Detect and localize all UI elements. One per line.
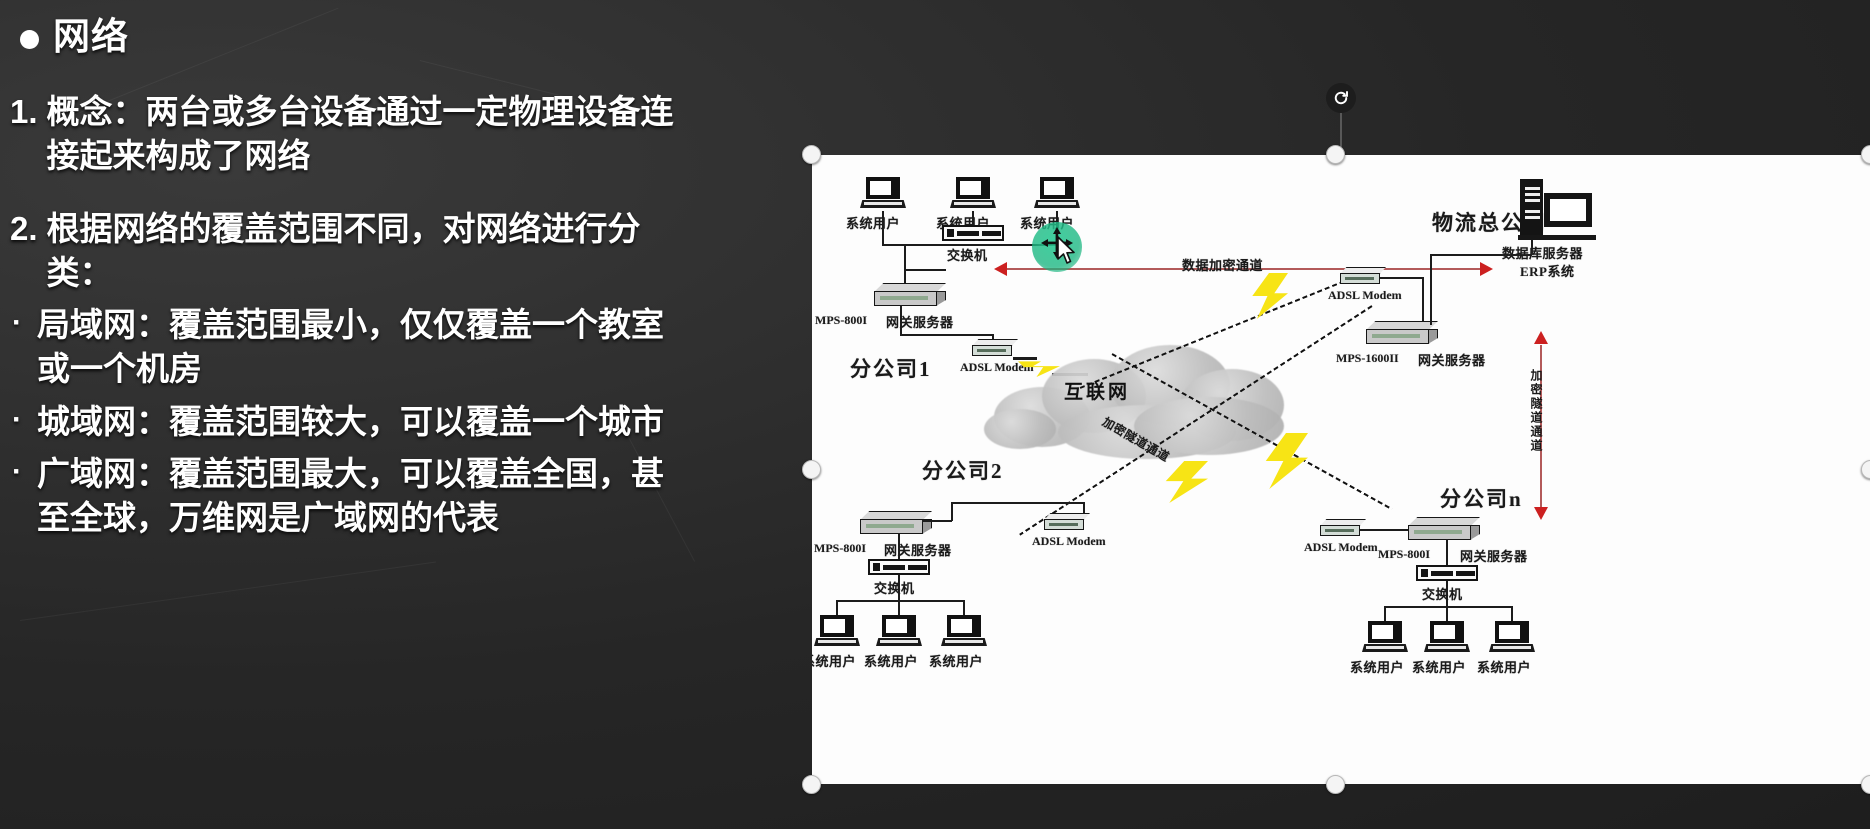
diagram-wire <box>972 211 974 225</box>
list-item: 1. 概念：两台或多台设备通过一定物理设备连接起来构成了网络 <box>10 90 780 177</box>
page-title-text: 网络 <box>53 14 129 60</box>
list-item-marker: · <box>10 452 24 492</box>
list-item-marker: 1. <box>10 90 38 134</box>
device-label: 交换机 <box>1422 584 1463 603</box>
diagram-wire <box>836 600 964 602</box>
device-label: 网关服务器 <box>886 312 954 331</box>
diagram-wire <box>1380 277 1424 279</box>
list-item-text: 概念：两台或多台设备通过一定物理设备连接起来构成了网络 <box>47 90 687 177</box>
list-item-marker: · <box>10 303 24 343</box>
list-item: · 广域网：覆盖范围最大，可以覆盖全国，甚至全球，万维网是广域网的代表 <box>10 452 780 539</box>
laptop-icon <box>860 177 906 211</box>
slide-text-panel: 网络 1. 概念：两台或多台设备通过一定物理设备连接起来构成了网络 2. 根据网… <box>0 0 790 829</box>
resize-handle-s[interactable] <box>1326 775 1345 794</box>
gateway-server-icon <box>860 511 932 537</box>
device-label: 系统用户 <box>1350 657 1404 676</box>
laptop-icon <box>1489 621 1535 655</box>
diagram-wire <box>951 502 953 521</box>
device-label: 系统用户 <box>864 651 918 670</box>
network-diagram-canvas[interactable]: 系统用户 系统用户 系统用户 交换机 MPS-800I 网关服务器 <box>812 155 1870 784</box>
arrow-head-left-icon <box>994 262 1007 276</box>
list-item-marker: · <box>10 400 24 440</box>
arrow-head-down-icon <box>1534 507 1548 520</box>
laptop-icon <box>1362 621 1408 655</box>
laptop-icon <box>1424 621 1470 655</box>
diagram-wire <box>1430 255 1432 325</box>
resize-handle-w[interactable] <box>802 460 821 479</box>
diagram-wire <box>900 334 992 336</box>
device-model-label: MPS-800I <box>815 313 867 328</box>
resize-handle-se[interactable] <box>1861 775 1870 794</box>
adsl-modem-icon <box>1044 513 1090 532</box>
list-item: · 城域网：覆盖范围较大，可以覆盖一个城市 <box>10 400 780 444</box>
device-label: 交换机 <box>874 578 915 597</box>
device-label: 网关服务器 <box>884 540 952 559</box>
region-label: 分公司1 <box>850 353 932 383</box>
device-label: ADSL Modem <box>1032 534 1106 549</box>
device-label: 系统用户 <box>929 651 983 670</box>
device-label: 系统用户 <box>1412 657 1466 676</box>
device-label: 交换机 <box>947 245 988 264</box>
laptop-icon <box>814 615 860 649</box>
mouse-pointer-icon <box>1056 236 1078 266</box>
channel-label: 数据加密通道 <box>1182 255 1263 274</box>
device-label: ADSL Modem <box>1328 288 1402 303</box>
list-item-text: 根据网络的覆盖范围不同，对网络进行分类： <box>47 207 687 294</box>
list-item: · 局域网：覆盖范围最小，仅仅覆盖一个教室或一个机房 <box>10 303 780 390</box>
device-label: 系统用户 <box>846 213 900 232</box>
laptop-icon <box>1034 177 1080 211</box>
laptop-icon <box>941 615 987 649</box>
diagram-wire <box>1446 581 1448 607</box>
device-label: 数据库服务器 <box>1502 243 1583 262</box>
diagram-wire <box>898 533 900 561</box>
list-item-text: 局域网：覆盖范围最小，仅仅覆盖一个教室或一个机房 <box>37 303 677 390</box>
network-diagram-object[interactable]: 系统用户 系统用户 系统用户 交换机 MPS-800I 网关服务器 <box>812 155 1870 784</box>
diagram-wire <box>1446 539 1448 567</box>
device-model-label: MPS-800I <box>1378 547 1430 562</box>
lightning-bolt-icon <box>1164 461 1208 503</box>
switch-icon <box>1416 565 1478 581</box>
diagram-wire <box>898 575 900 601</box>
diagram-wire <box>951 502 1084 504</box>
switch-icon <box>868 559 930 575</box>
diagram-wire <box>922 520 952 522</box>
device-label: 系统用户 <box>1477 657 1531 676</box>
diagram-wire <box>1360 529 1414 531</box>
diagram-wire <box>904 244 906 270</box>
resize-handle-n[interactable] <box>1326 145 1345 164</box>
device-model-label: MPS-1600II <box>1336 351 1399 366</box>
page-title: 网络 <box>20 14 780 60</box>
device-label: 系统用户 <box>812 651 856 670</box>
database-server-icon <box>1512 179 1600 241</box>
device-label: 网关服务器 <box>1418 350 1486 369</box>
device-model-label: MPS-800I <box>814 541 866 556</box>
resize-handle-nw[interactable] <box>802 145 821 164</box>
circle-bullet-icon <box>20 30 39 49</box>
arrow-head-up-icon <box>1534 331 1548 344</box>
diagram-wire <box>900 305 902 335</box>
gateway-server-icon <box>1408 517 1480 543</box>
list-item-text: 广域网：覆盖范围最大，可以覆盖全国，甚至全球，万维网是广域网的代表 <box>37 452 677 539</box>
device-label: ADSL Modem <box>1304 540 1378 555</box>
region-label: 分公司2 <box>922 455 1004 485</box>
diagram-wire <box>1384 606 1512 608</box>
diagram-wire <box>904 269 946 271</box>
rotate-handle-icon[interactable] <box>1326 83 1356 113</box>
list-item: 2. 根据网络的覆盖范围不同，对网络进行分类： <box>10 207 780 294</box>
slide-root: 网络 1. 概念：两台或多台设备通过一定物理设备连接起来构成了网络 2. 根据网… <box>0 0 1870 829</box>
arrow-head-right-icon <box>1480 262 1493 276</box>
gateway-server-icon <box>874 283 946 309</box>
resize-handle-sw[interactable] <box>802 775 821 794</box>
gateway-server-icon <box>1366 321 1438 347</box>
switch-icon <box>942 225 1004 241</box>
laptop-icon <box>876 615 922 649</box>
laptop-icon <box>950 177 996 211</box>
channel-label: 加密隧道通道 <box>1528 369 1545 453</box>
diagram-wire <box>882 211 884 245</box>
region-label: 分公司n <box>1440 483 1523 513</box>
list-item-text: 城域网：覆盖范围较大，可以覆盖一个城市 <box>37 400 664 444</box>
device-label: 网关服务器 <box>1460 546 1528 565</box>
list-item-marker: 2. <box>10 207 38 251</box>
device-label: ERP系统 <box>1520 261 1575 280</box>
